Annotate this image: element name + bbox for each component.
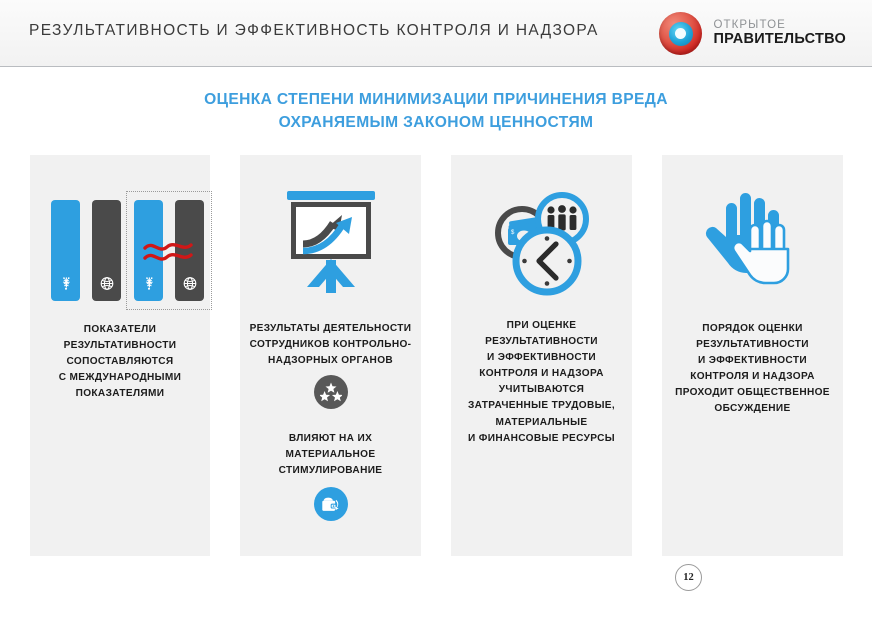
slide-title-line-1: ОЦЕНКА СТЕПЕНИ МИНИМИЗАЦИИ ПРИЧИНЕНИЯ ВР… <box>0 88 872 111</box>
card-text-line: И ЭФФЕКТИВНОСТИ <box>459 350 624 366</box>
wallet-money-badge <box>314 487 348 521</box>
three-stars-icon <box>320 382 342 402</box>
card-text-line: КОНТРОЛЯ И НАДЗОРА <box>459 366 624 382</box>
card-text-line: УЧИТЫВАЮТСЯ <box>459 382 624 398</box>
russian-eagle-icon <box>57 275 74 292</box>
globe-grid-icon <box>98 275 115 292</box>
card-public-discussion-text: ПОРЯДОК ОЦЕНКИ РЕЗУЛЬТАТИВНОСТИ И ЭФФЕКТ… <box>670 321 835 418</box>
two-hands-icon <box>698 185 808 295</box>
card-employee-results-text: РЕЗУЛЬТАТЫ ДЕЯТЕЛЬНОСТИ СОТРУДНИКОВ КОНТ… <box>248 321 413 369</box>
logo-line-2: ПРАВИТЕЛЬСТВО <box>713 32 846 47</box>
russian-eagle-icon <box>140 275 157 292</box>
card-resources-text: ПРИ ОЦЕНКЕ РЕЗУЛЬТАТИВНОСТИ И ЭФФЕКТИВНО… <box>459 318 624 447</box>
card-indicators-comparison[interactable]: ПОКАЗАТЕЛИ РЕЗУЛЬТАТИВНОСТИ СОПОСТАВЛЯЮТ… <box>30 155 210 556</box>
card-text-line: СТИМУЛИРОВАНИЕ <box>248 463 413 479</box>
card-employee-results[interactable]: РЕЗУЛЬТАТЫ ДЕЯТЕЛЬНОСТИ СОТРУДНИКОВ КОНТ… <box>240 155 421 556</box>
card-text-line: ПОКАЗАТЕЛЯМИ <box>38 386 202 402</box>
card-text-line: ПРИ ОЦЕНКЕ <box>459 318 624 334</box>
card-text-line: ЗАТРАЧЕННЫЕ ТРУДОВЫЕ, <box>459 398 624 414</box>
card-text-line: СОПОСТАВЛЯЮТСЯ <box>38 354 202 370</box>
card-text-line: КОНТРОЛЯ И НАДЗОРА <box>670 369 835 385</box>
page-title: РЕЗУЛЬТАТИВНОСТЬ И ЭФФЕКТИВНОСТЬ КОНТРОЛ… <box>29 22 599 40</box>
card-indicators-text: ПОКАЗАТЕЛИ РЕЗУЛЬТАТИВНОСТИ СОПОСТАВЛЯЮТ… <box>38 322 202 402</box>
open-government-logo: ОТКРЫТОЕ ПРАВИТЕЛЬСТВО <box>659 12 846 55</box>
globe-grid-icon <box>181 275 198 292</box>
card-text-line: ПРОХОДИТ ОБЩЕСТВЕННОЕ <box>670 385 835 401</box>
card-text-line: ОБСУЖДЕНИЕ <box>670 401 835 417</box>
page-header: РЕЗУЛЬТАТИВНОСТЬ И ЭФФЕКТИВНОСТЬ КОНТРОЛ… <box>0 0 872 67</box>
card-text-line: РЕЗУЛЬТАТЫ ДЕЯТЕЛЬНОСТИ <box>248 321 413 337</box>
card-public-discussion[interactable]: ПОРЯДОК ОЦЕНКИ РЕЗУЛЬТАТИВНОСТИ И ЭФФЕКТ… <box>662 155 843 556</box>
comparison-bars-icon <box>30 185 210 315</box>
card-text-line: НАДЗОРНЫХ ОРГАНОВ <box>248 353 413 369</box>
card-text-line: С МЕЖДУНАРОДНЫМИ <box>38 370 202 386</box>
card-text-line: И ФИНАНСОВЫЕ РЕСУРСЫ <box>459 431 624 447</box>
logo-ring-icon <box>659 12 702 55</box>
card-text-line: МАТЕРИАЛЬНОЕ <box>248 447 413 463</box>
card-incentive-text: ВЛИЯЮТ НА ИХ МАТЕРИАЛЬНОЕ СТИМУЛИРОВАНИЕ <box>248 431 413 479</box>
card-text-line: ПОКАЗАТЕЛИ <box>38 322 202 338</box>
slide-title-line-2: ОХРАНЯЕМЫМ ЗАКОНОМ ЦЕННОСТЯМ <box>0 111 872 134</box>
resources-clock-money-people-icon: $ <box>482 183 602 303</box>
logo-wordmark: ОТКРЫТОЕ ПРАВИТЕЛЬСТВО <box>713 20 846 47</box>
approximately-equal-icon <box>143 239 193 265</box>
card-text-line: РЕЗУЛЬТАТИВНОСТИ <box>670 337 835 353</box>
logo-inner-ring-icon <box>669 22 693 46</box>
bar-blue-1 <box>51 200 80 301</box>
card-text-line: МАТЕРИАЛЬНЫЕ <box>459 415 624 431</box>
three-stars-badge <box>314 375 348 409</box>
logo-core-icon <box>675 28 686 39</box>
presentation-growth-chart-icon <box>281 190 381 295</box>
page-number-badge: 12 <box>675 564 702 591</box>
bar-dark-1 <box>92 200 121 301</box>
card-text-line: РЕЗУЛЬТАТИВНОСТИ <box>38 338 202 354</box>
card-text-line: ВЛИЯЮТ НА ИХ <box>248 431 413 447</box>
card-text-line: РЕЗУЛЬТАТИВНОСТИ <box>459 334 624 350</box>
wallet-money-icon <box>320 493 342 515</box>
card-resources-considered[interactable]: $ ПРИ ОЦЕНКЕ РЕЗУЛЬТАТИВНОСТИ И ЭФФЕКТИВ… <box>451 155 632 556</box>
card-text-line: И ЭФФЕКТИВНОСТИ <box>670 353 835 369</box>
card-text-line: ПОРЯДОК ОЦЕНКИ <box>670 321 835 337</box>
slide-title: ОЦЕНКА СТЕПЕНИ МИНИМИЗАЦИИ ПРИЧИНЕНИЯ ВР… <box>0 88 872 134</box>
card-text-line: СОТРУДНИКОВ КОНТРОЛЬНО- <box>248 337 413 353</box>
